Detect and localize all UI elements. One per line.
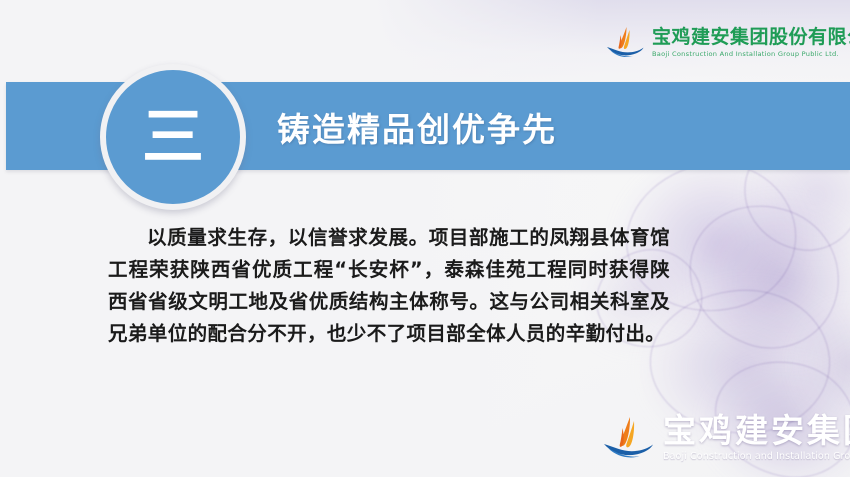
footer-company-logo: 宝鸡建安集团 Baoji Construction and Installati… (600, 414, 850, 462)
header-company-name-en: Baoji Construction And Installation Grou… (652, 51, 850, 58)
section-number-badge: 三 (100, 64, 246, 210)
footer-company-name-cn: 宝鸡建安集团 (663, 414, 850, 447)
baoji-flame-sail-icon (600, 415, 656, 461)
body-paragraph: 以质量求生存，以信誉求发展。项目部施工的凤翔县体育馆工程荣获陕西省优质工程“长安… (108, 222, 670, 350)
footer-company-name-en: Baoji Construction and Installation Grou… (663, 452, 850, 462)
header-company-logo: 宝鸡建安集团股份有限公司 Baoji Construction And Inst… (604, 26, 850, 60)
header-company-name-cn: 宝鸡建安集团股份有限公司 (652, 28, 850, 47)
section-title: 铸造精品创优争先 (277, 103, 557, 151)
baoji-flame-sail-icon (604, 26, 646, 60)
presentation-slide: 宝鸡建安集团股份有限公司 Baoji Construction And Inst… (0, 0, 850, 477)
section-number-label: 三 (142, 106, 204, 168)
